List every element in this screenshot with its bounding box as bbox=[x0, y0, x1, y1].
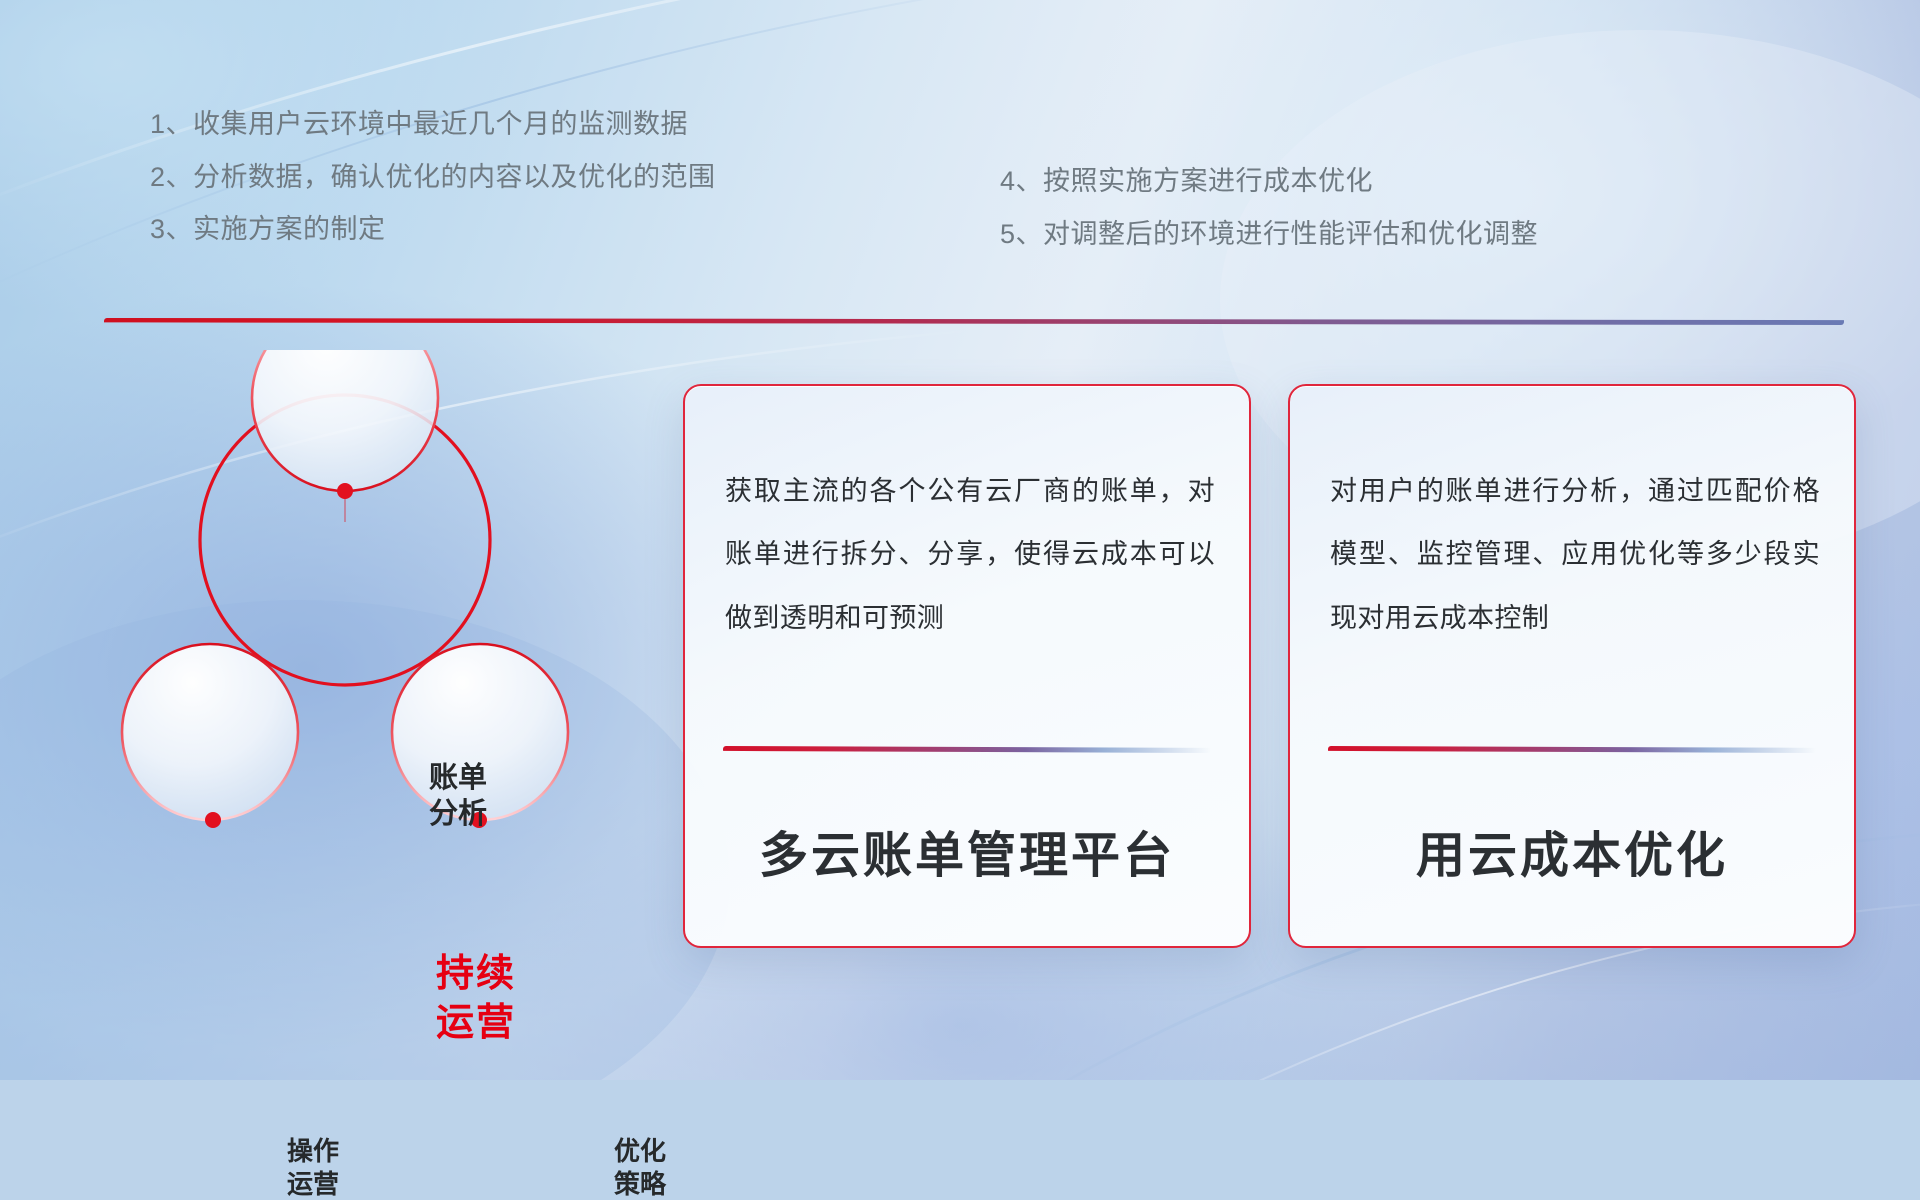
process-step-1: 1、收集用户云环境中最近几个月的监测数据 bbox=[150, 98, 716, 151]
card-body-text: 获取主流的各个公有云厂商的账单，对账单进行拆分、分享，使得云成本可以做到透明和可… bbox=[725, 460, 1215, 650]
card-title: 多云账单管理平台 bbox=[685, 816, 1249, 887]
venn-bubble-top bbox=[252, 350, 438, 491]
venn-node-left bbox=[205, 812, 221, 828]
venn-label-operations: 操作 运营 bbox=[243, 1135, 383, 1200]
process-steps-right: 4、按照实施方案进行成本优化 5、对调整后的环境进行性能评估和优化调整 bbox=[1000, 155, 1538, 260]
venn-bubble-left bbox=[122, 644, 298, 820]
process-steps-left: 1、收集用户云环境中最近几个月的监测数据 2、分析数据，确认优化的内容以及优化的… bbox=[150, 98, 716, 256]
card-body-text: 对用户的账单进行分析，通过匹配价格模型、监控管理、应用优化等多少段实现对用云成本… bbox=[1330, 460, 1820, 650]
venn-label-bill-analysis: 账单 分析 bbox=[388, 760, 528, 833]
process-step-3: 3、实施方案的制定 bbox=[150, 203, 716, 256]
card-title: 用云成本优化 bbox=[1290, 816, 1854, 887]
card-multicloud-billing-platform[interactable]: 获取主流的各个公有云厂商的账单，对账单进行拆分、分享，使得云成本可以做到透明和可… bbox=[683, 384, 1251, 948]
card-divider bbox=[723, 746, 1211, 753]
process-step-2: 2、分析数据，确认优化的内容以及优化的范围 bbox=[150, 151, 716, 204]
continuous-operations-venn-diagram: 账单 分析 持续 运营 操作 运营 优化 策略 bbox=[100, 350, 550, 950]
card-cloud-cost-optimization[interactable]: 对用户的账单进行分析，通过匹配价格模型、监控管理、应用优化等多少段实现对用云成本… bbox=[1288, 384, 1856, 948]
process-step-5: 5、对调整后的环境进行性能评估和优化调整 bbox=[1000, 208, 1538, 261]
process-step-4: 4、按照实施方案进行成本优化 bbox=[1000, 155, 1538, 208]
venn-label-optimization-strategy: 优化 策略 bbox=[570, 1135, 710, 1200]
card-divider bbox=[1328, 746, 1816, 753]
venn-label-continuous-operations: 持续 运营 bbox=[396, 950, 556, 1049]
